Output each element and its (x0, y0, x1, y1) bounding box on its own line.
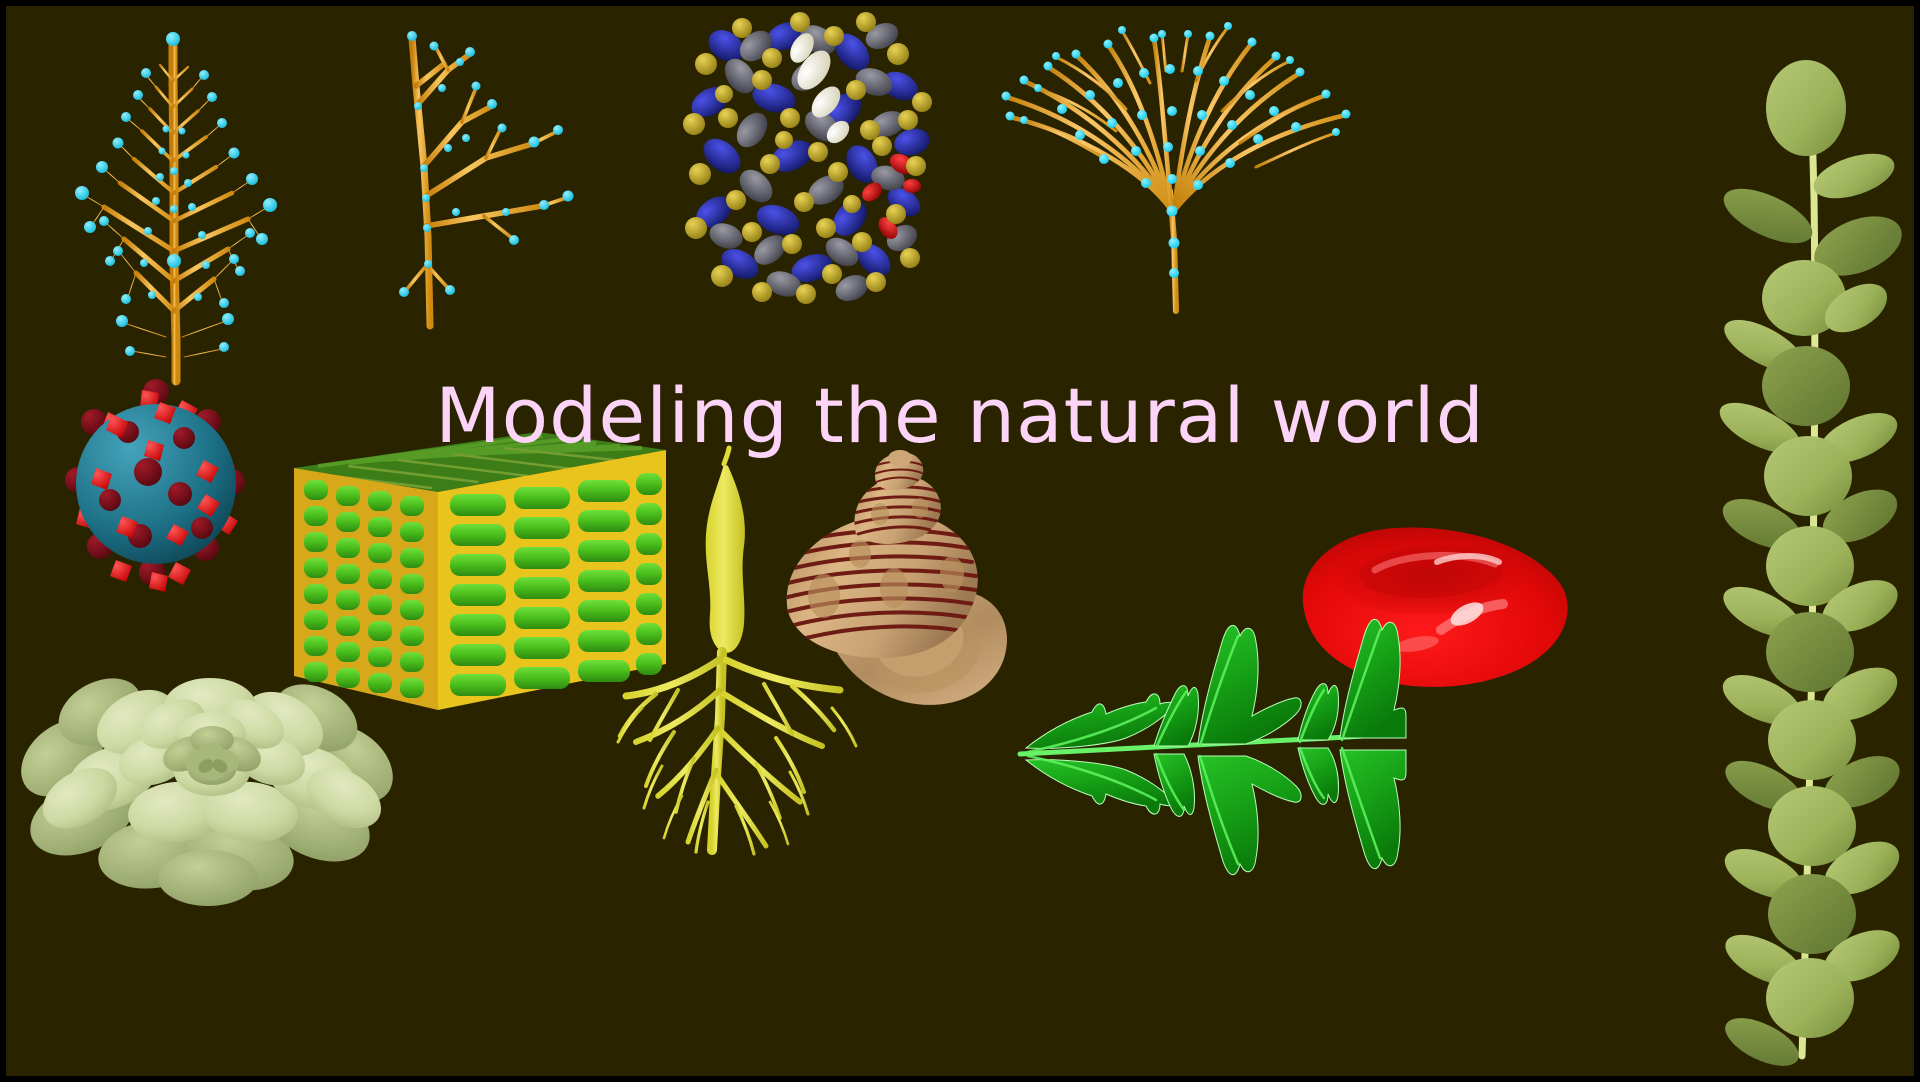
figure-inflorescence-fan (966, 11, 1386, 321)
figure-vine-leaves (1706, 46, 1914, 1056)
vine-leaves-icon (1706, 46, 1914, 1056)
branching-shrub-icon (16, 11, 336, 381)
page-title: Modeling the natural world (6, 378, 1914, 454)
figure-young-shoot (366, 26, 586, 326)
poster-canvas: Modeling the natural world (6, 6, 1914, 1076)
poster: Modeling the natural world (0, 0, 1920, 1082)
figure-branching-shrub (16, 11, 336, 381)
inflorescence-fan-icon (966, 11, 1386, 321)
figure-compound-leaf (1006, 566, 1406, 916)
young-shoot-icon (366, 26, 586, 326)
figure-succulent-rosette (26, 626, 396, 896)
succulent-rosette-icon (26, 626, 396, 896)
protein-molecule-icon (666, 6, 956, 306)
compound-leaf-icon (1006, 566, 1406, 916)
figure-protein-molecule (666, 6, 956, 306)
figure-seashell (776, 446, 1036, 726)
seashell-icon (776, 446, 1036, 726)
